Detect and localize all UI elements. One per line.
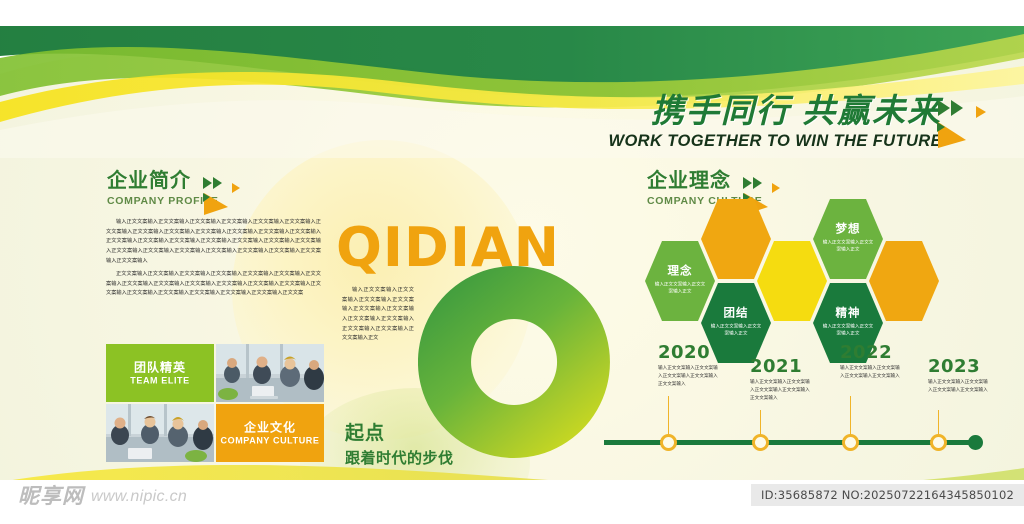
- company-culture-label-cell: 企业文化 COMPANY CULTURE: [216, 404, 324, 462]
- start-slogan: 起点 跟着时代的步伐: [345, 423, 454, 468]
- hexagon-accent-orange-right[interactable]: [868, 240, 940, 322]
- timeline-end-dot: [968, 435, 983, 450]
- hexagon-idea-name: 理念: [653, 266, 707, 280]
- timeline-stem-2021: [760, 410, 761, 436]
- headline-en: WORK TOGETHER TO WIN THE FUTURE: [608, 132, 942, 151]
- poster-canvas: 携手同行 共赢未来 WORK TOGETHER TO WIN THE FUTUR…: [0, 0, 1024, 524]
- culture-cell-en: COMPANY CULTURE: [216, 436, 324, 446]
- team-elite-en: TEAM ELITE: [106, 376, 214, 386]
- photo-meeting-1: [216, 344, 324, 402]
- profile-paragraph-1: 输入正文文案输入正文文案输入正文文案输入正文文案输入正文文案输入正文文案输入正文…: [106, 218, 321, 266]
- team-elite-cn: 团队精英: [106, 360, 214, 374]
- timeline-desc-2020: 输入正文文案输入正文文案输入正文文案输入正文文案输入正文文案输入: [658, 365, 718, 389]
- timeline-node-2021[interactable]: [752, 434, 769, 451]
- team-elite-label-cell: 团队精英 TEAM ELITE: [106, 344, 214, 402]
- timeline-desc-2023: 输入正文文案输入正文文案输入正文文案输入正文文案输入: [928, 379, 988, 395]
- hexagon-dream-desc: 输入正文文案输入正文文案输入正文: [821, 239, 875, 254]
- timeline-year-2022: 2022: [840, 344, 900, 362]
- poster-board: 携手同行 共赢未来 WORK TOGETHER TO WIN THE FUTUR…: [0, 18, 1024, 506]
- milestone-timeline: 2020 输入正文文案输入正文文案输入正文文案输入正文文案输入正文文案输入 20…: [604, 344, 1004, 460]
- watermark-cn: 昵享网: [18, 486, 84, 507]
- profile-paragraph-2: 正文文案输入正文文案输入正文文案输入正文文案输入正文文案输入正文文案输入正文文案…: [106, 270, 321, 299]
- timeline-item-2023[interactable]: 2023 输入正文文案输入正文文案输入正文文案输入正文文案输入: [928, 358, 988, 395]
- hexagon-cluster: 理念 输入正文文案输入正文文案输入正文 团结 输入正文文案输入正文文案输入正文: [644, 214, 944, 344]
- headline-arrow-icon: [936, 96, 992, 150]
- hexagon-idea-desc: 输入正文文案输入正文文案输入正文: [653, 281, 707, 296]
- company-profile-text: 输入正文文案输入正文文案输入正文文案输入正文文案输入正文文案输入正文文案输入正文…: [106, 218, 321, 299]
- timeline-item-2021[interactable]: 2021 输入正文文案输入正文文案输入正文文案输入正文文案输入正文文案输入: [750, 358, 810, 403]
- watermark-url: www.nipic.cn: [91, 488, 187, 506]
- timeline-year-2021: 2021: [750, 358, 810, 376]
- asset-id-text: ID:35685872 NO:20250722164345850102: [761, 488, 1014, 502]
- timeline-node-2022[interactable]: [842, 434, 859, 451]
- timeline-item-2020[interactable]: 2020 输入正文文案输入正文文案输入正文文案输入正文文案输入正文文案输入: [658, 344, 718, 389]
- asset-id-bar: ID:35685872 NO:20250722164345850102: [751, 484, 1024, 506]
- hexagon-unity-name: 团结: [709, 308, 763, 322]
- headline-cn: 携手同行 共赢未来: [608, 94, 942, 129]
- hexagon-dream-name: 梦想: [821, 224, 875, 238]
- timeline-node-2020[interactable]: [660, 434, 677, 451]
- center-paragraph: 输入正文文案输入正文文案输入正文文案输入正文文案输入正文文案输入正文文案输入正文…: [342, 286, 414, 344]
- timeline-node-2023[interactable]: [930, 434, 947, 451]
- company-profile-arrow-icon: [200, 174, 248, 216]
- main-headline: 携手同行 共赢未来 WORK TOGETHER TO WIN THE FUTUR…: [608, 94, 942, 151]
- timeline-desc-2021: 输入正文文案输入正文文案输入正文文案输入正文文案输入正文文案输入: [750, 379, 810, 403]
- timeline-desc-2022: 输入正文文案输入正文文案输入正文文案输入正文文案输入: [840, 365, 900, 381]
- site-watermark: 昵享网 www.nipic.cn: [18, 486, 187, 507]
- photo-meeting-2: [106, 404, 214, 462]
- timeline-year-2023: 2023: [928, 358, 988, 376]
- timeline-item-2022[interactable]: 2022 输入正文文案输入正文文案输入正文文案输入正文文案输入: [840, 344, 900, 381]
- culture-cell-cn: 企业文化: [216, 420, 324, 434]
- footer-bar: 昵享网 www.nipic.cn ID:35685872 NO:20250722…: [0, 480, 1024, 524]
- timeline-stem-2022: [850, 396, 851, 436]
- timeline-year-2020: 2020: [658, 344, 718, 362]
- hexagon-spirit-desc: 输入正文文案输入正文文案输入正文: [821, 323, 875, 338]
- start-title: 起点: [345, 423, 454, 445]
- timeline-stem-2023: [938, 410, 939, 436]
- timeline-stem-2020: [668, 396, 669, 436]
- hexagon-spirit-name: 精神: [821, 308, 875, 322]
- hexagon-unity-desc: 输入正文文案输入正文文案输入正文: [709, 323, 763, 338]
- start-subtitle: 跟着时代的步伐: [345, 447, 454, 468]
- photo-grid: 团队精英 TEAM ELITE: [106, 344, 322, 464]
